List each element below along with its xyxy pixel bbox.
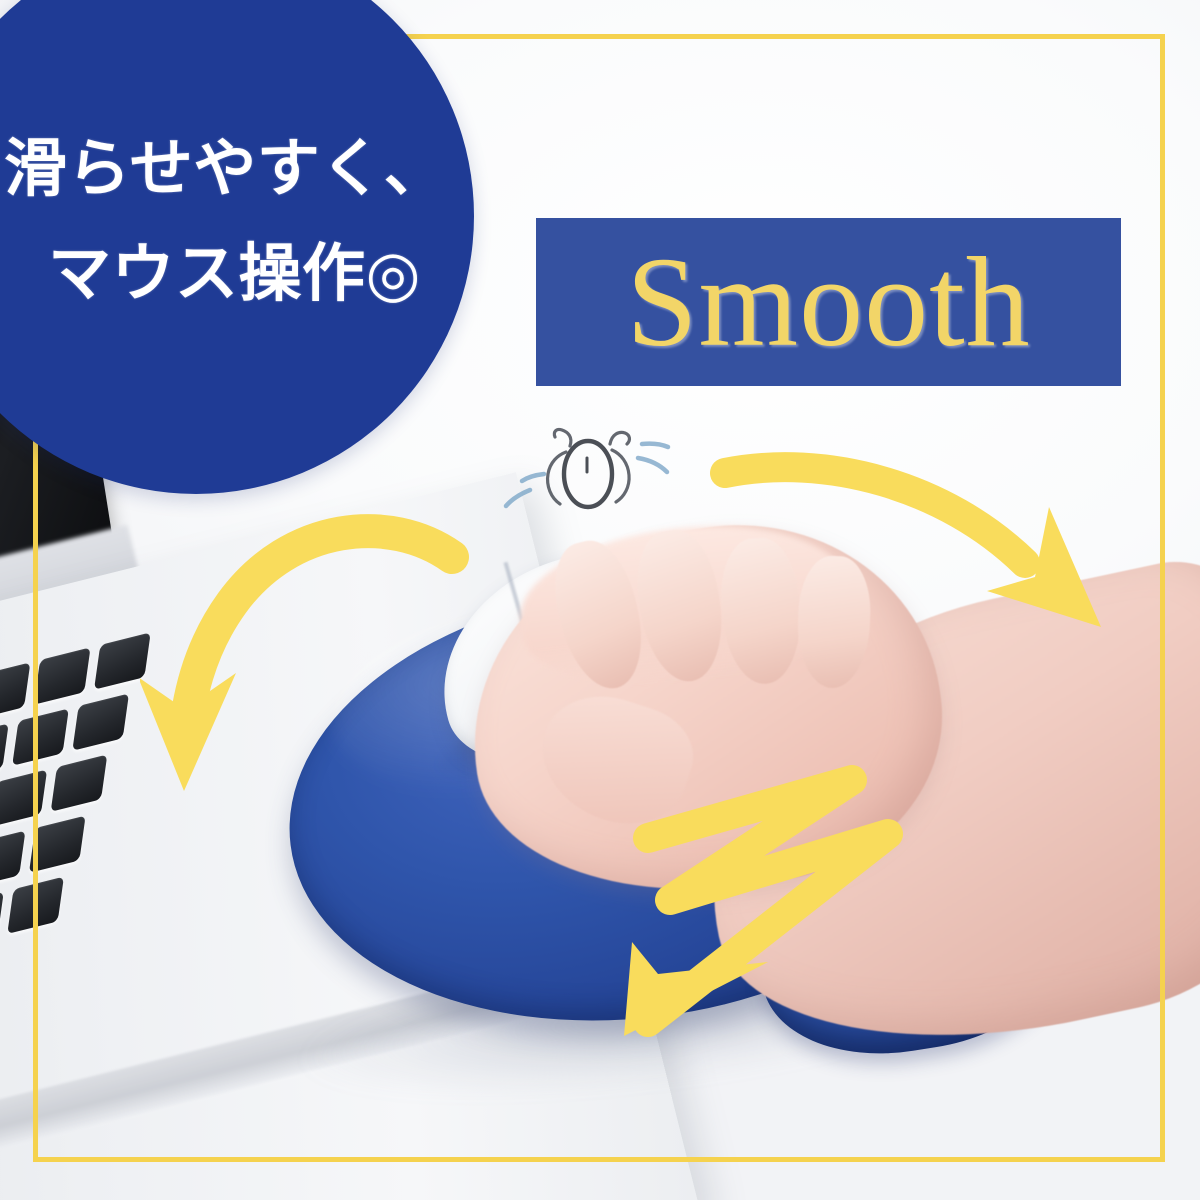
arrow-zigzag-down-left bbox=[600, 760, 930, 1060]
promo-image: Smooth 滑らせやすく、 マウス操作◎ Ergonomic blue mou… bbox=[0, 0, 1200, 1200]
callout-line-1: 滑らせやすく、 bbox=[0, 118, 474, 209]
arrow-curved-down-right bbox=[705, 435, 1125, 655]
callout-line-2: マウス操作◎ bbox=[0, 223, 474, 314]
smooth-banner-label: Smooth bbox=[626, 238, 1030, 366]
mouse-sketch-doodle bbox=[470, 400, 700, 540]
smooth-banner: Smooth bbox=[536, 218, 1121, 386]
arrow-curved-down-left bbox=[140, 495, 480, 825]
